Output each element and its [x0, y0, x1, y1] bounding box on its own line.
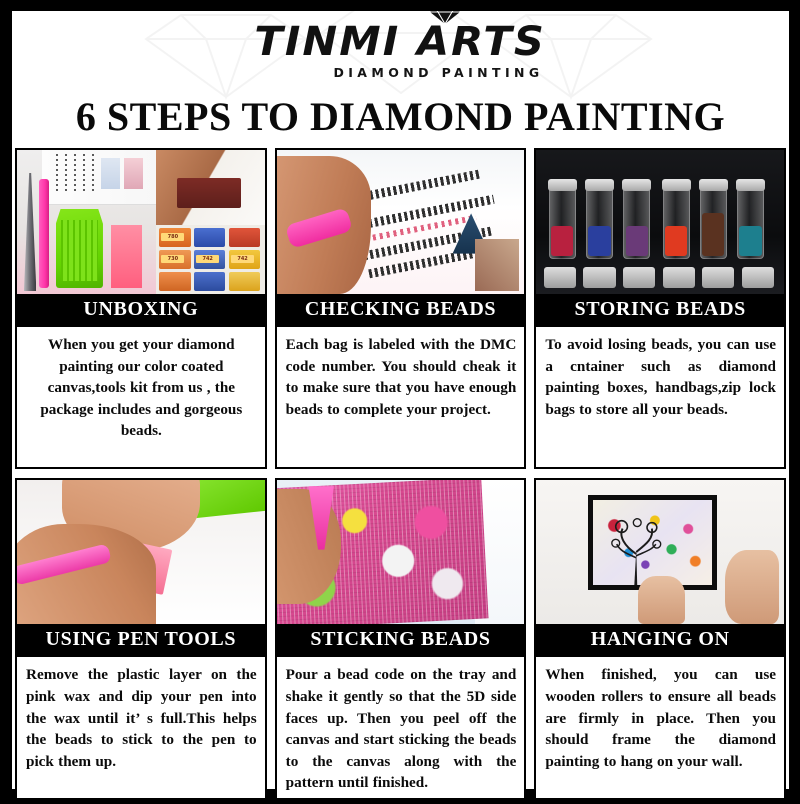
- poster-sheet: TINMI ARTS DIAMOND PAINTING 6 STEPS TO D…: [12, 11, 789, 789]
- step-photo-sticking-beads: [277, 480, 525, 624]
- logo-block: TINMI ARTS DIAMOND PAINTING: [257, 22, 543, 80]
- step-card-hanging-on: HANGING ON When finished, you can use wo…: [534, 478, 786, 799]
- step-heading-hanging-on: HANGING ON: [536, 624, 784, 655]
- step-heading-storing-beads: STORING BEADS: [536, 294, 784, 325]
- step-card-unboxing: 780 730 742 742: [15, 148, 267, 469]
- logo-tagline: DIAMOND PAINTING: [333, 67, 543, 80]
- step-text-checking-beads: Each bag is labeled with the DMC code nu…: [277, 325, 525, 467]
- bead-bags-region: 780 730 742 742: [156, 225, 265, 294]
- hand-holding-wax-region: [156, 150, 265, 225]
- green-tray-icon: [56, 196, 103, 288]
- step-heading-unboxing: UNBOXING: [17, 294, 265, 325]
- wax-card: [177, 178, 240, 208]
- step-text-storing-beads: To avoid losing beads, you can use a cnt…: [536, 325, 784, 467]
- step-photo-unboxing: 780 730 742 742: [17, 150, 265, 294]
- tweezers-icon: [24, 173, 36, 291]
- color-chart-strip: [42, 150, 156, 205]
- step-heading-using-pen-tools: USING PEN TOOLS: [17, 624, 265, 655]
- tree-icon: [603, 507, 670, 585]
- bead-bag-label: 780: [161, 233, 184, 241]
- poster-header: TINMI ARTS DIAMOND PAINTING 6 STEPS TO D…: [12, 11, 789, 148]
- step-card-sticking-beads: STICKING BEADS Pour a bead code on the t…: [275, 478, 527, 799]
- step-photo-hanging-on: [536, 480, 784, 624]
- bead-bag-label: 742: [196, 255, 219, 263]
- step-card-storing-beads: STORING BEADS To avoid losing beads, you…: [534, 148, 786, 469]
- infographic-poster: TINMI ARTS DIAMOND PAINTING 6 STEPS TO D…: [0, 0, 800, 800]
- page-title: 6 STEPS TO DIAMOND PAINTING: [12, 93, 789, 140]
- pink-wax-icon: [111, 225, 142, 288]
- canvas-thumbnail: [475, 239, 520, 291]
- pink-pen-icon: [39, 179, 49, 288]
- step-text-hanging-on: When finished, you can use wooden roller…: [536, 655, 784, 797]
- step-heading-checking-beads: CHECKING BEADS: [277, 294, 525, 325]
- tools-photo-region: [17, 150, 156, 294]
- right-hand-region: [725, 550, 779, 625]
- logo-wordmark-row: TINMI ARTS: [260, 22, 540, 62]
- tree-of-life-artwork: [593, 500, 712, 585]
- step-heading-sticking-beads: STICKING BEADS: [277, 624, 525, 655]
- step-card-checking-beads: CHECKING BEADS Each bag is labeled with …: [275, 148, 527, 469]
- bead-bag-label: 730: [161, 255, 184, 263]
- bead-bag-label: 742: [231, 255, 254, 263]
- step-text-sticking-beads: Pour a bead code on the tray and shake i…: [277, 655, 525, 797]
- step-text-unboxing: When you get your diamond painting our c…: [17, 325, 265, 467]
- brand-logo: TINMI ARTS DIAMOND PAINTING: [12, 11, 789, 91]
- logo-text: TINMI ARTS: [255, 22, 547, 62]
- step-photo-using-pen-tools: [17, 480, 265, 624]
- step-card-using-pen-tools: USING PEN TOOLS Remove the plastic layer…: [15, 478, 267, 799]
- step-text-using-pen-tools: Remove the plastic layer on the pink wax…: [17, 655, 265, 797]
- diamond-icon: [429, 11, 461, 25]
- step-photo-checking-beads: [277, 150, 525, 294]
- steps-grid: 780 730 742 742: [12, 148, 789, 804]
- left-hand-region: [638, 576, 685, 625]
- step-photo-storing-beads: [536, 150, 784, 294]
